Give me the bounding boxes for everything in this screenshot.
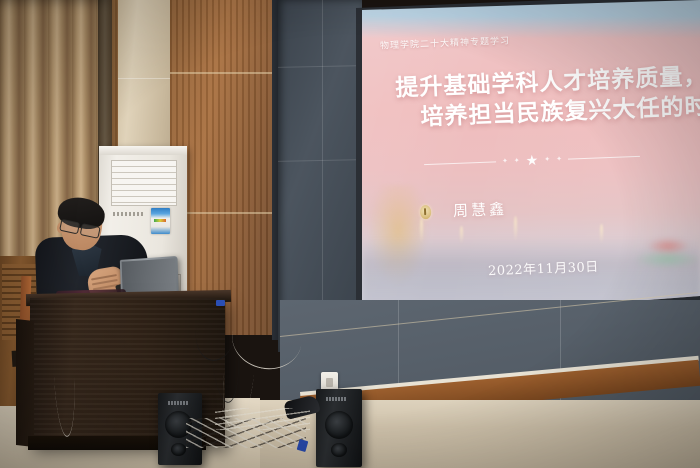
divider-star-small-icon: ✦ — [502, 157, 508, 164]
divider-star-small-icon: ✦ — [556, 155, 562, 162]
slide-content: 物理学院二十大精神专题学习 提升基础学科人才培养质量， 培养担当民族复兴大任的时… — [362, 0, 700, 322]
speaker-driver — [171, 443, 186, 456]
divider-line-right — [568, 155, 640, 159]
speaker-driver — [331, 443, 347, 457]
column-seam — [118, 78, 170, 79]
speaker-brand-badge — [168, 401, 188, 405]
slide-speaker-name: 周慧鑫 — [453, 198, 508, 221]
slide-speaker-row: 周慧鑫 — [420, 191, 700, 223]
divider-star-large-icon: ★ — [525, 153, 538, 167]
lecture-hall-photo: 物理学院二十大精神专题学习 提升基础学科人才培养质量， 培养担当民族复兴大任的时… — [0, 0, 700, 468]
slide-eyebrow-text: 物理学院二十大精神专题学习 — [380, 34, 510, 52]
speaker-brand-badge — [326, 397, 346, 401]
emblem-icon — [420, 204, 432, 218]
wood-wall-trim-line — [170, 72, 280, 74]
loudspeaker-right — [316, 389, 362, 467]
air-conditioner-top — [99, 146, 187, 155]
projection-screen: 物理学院二十大精神专题学习 提升基础学科人才培养质量， 培养担当民族复兴大任的时… — [362, 0, 700, 322]
slide-date: 2022年11月30日 — [488, 256, 599, 279]
divider-line-left — [424, 161, 496, 165]
cable-tangle — [215, 408, 310, 430]
divider-star-small-icon: ✦ — [544, 156, 550, 163]
speaker-driver — [325, 411, 353, 439]
slide-divider: ✦ ✦ ★ ✦ ✦ — [392, 147, 672, 174]
divider-star-small-icon: ✦ — [514, 157, 520, 164]
slide-title: 提升基础学科人才培养质量， 培养担当民族复兴大任的时代 — [362, 61, 700, 135]
podium-side — [16, 319, 34, 447]
